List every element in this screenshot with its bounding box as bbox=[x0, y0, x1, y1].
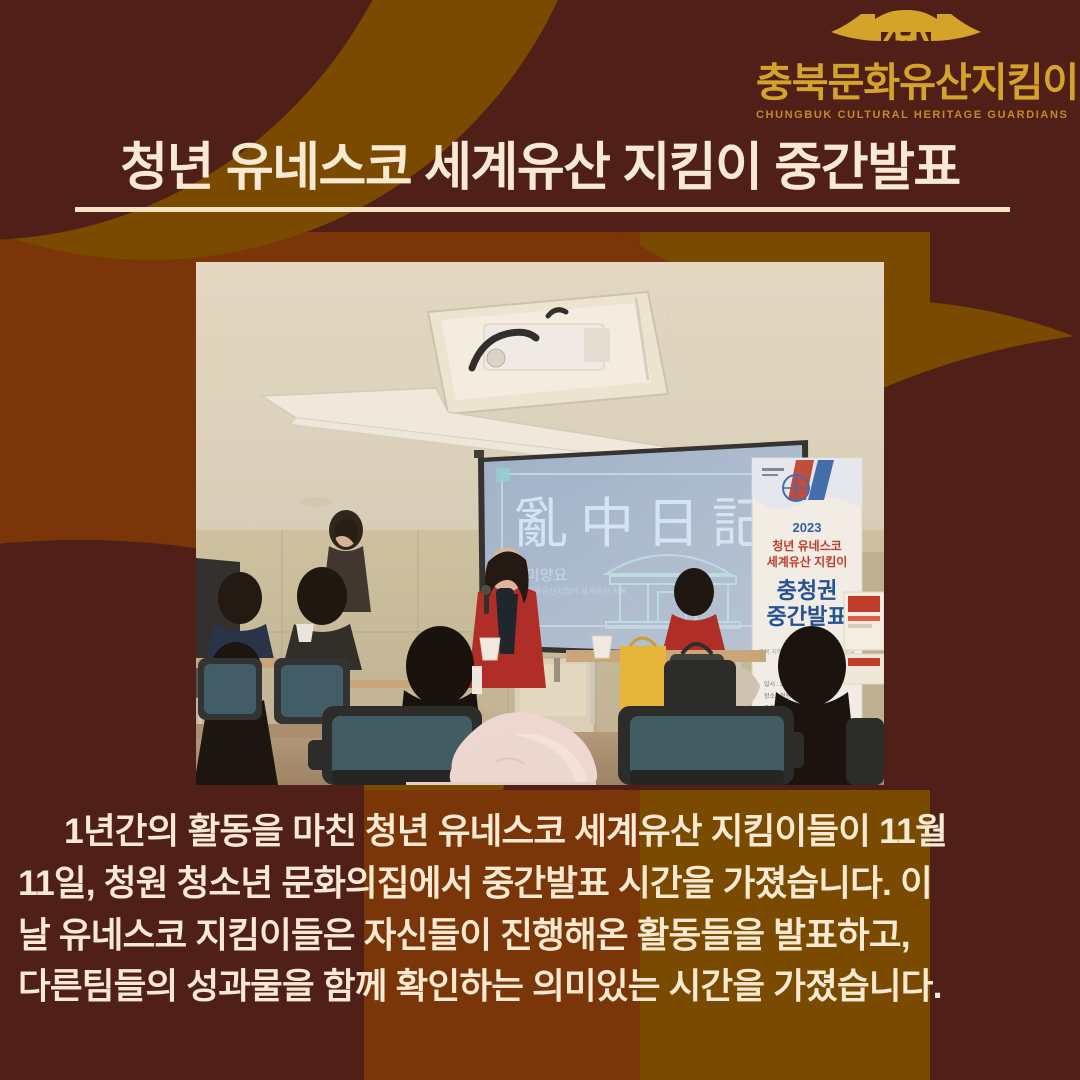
body-line-3: 날 유네스코 지킴이들은 자신들이 진행해온 활동들을 발표하고, bbox=[18, 910, 1062, 962]
promo-card: 충북문화유산지킴이 CHUNGBUK CULTURAL HERITAGE GUA… bbox=[0, 0, 1080, 1080]
event-photo-illustration: 亂中日記 신미양요 충북문화유산지킴이 세계유산 기록 bbox=[196, 262, 884, 785]
logo-tagline: CHUNGBUK CULTURAL HERITAGE GUARDIANS bbox=[756, 109, 1056, 121]
body-paragraph: 1년간의 활동을 마친 청년 유네스코 세계유산 지킴이들이 11월 11일, … bbox=[18, 806, 1062, 1013]
event-photo: 亂中日記 신미양요 충북문화유산지킴이 세계유산 기록 bbox=[196, 262, 884, 785]
logo-wordmark: 충북문화유산지킴이 bbox=[756, 62, 1056, 104]
title-underline-rule bbox=[75, 207, 1010, 212]
page-title: 청년 유네스코 세계유산 지킴이 중간발표 bbox=[120, 140, 960, 197]
body-line-1: 1년간의 활동을 마친 청년 유네스코 세계유산 지킴이들이 11월 bbox=[18, 806, 1062, 858]
body-line-4: 다른팀들의 성과물을 함께 확인하는 의미있는 시간을 가졌습니다. bbox=[18, 961, 1062, 1013]
body-line-2: 11일, 청원 청소년 문화의집에서 중간발표 시간을 가졌습니다. 이 bbox=[18, 858, 1062, 910]
chungbuk-heritage-roof-emblem bbox=[831, 8, 981, 60]
brand-logo: 충북문화유산지킴이 CHUNGBUK CULTURAL HERITAGE GUA… bbox=[756, 8, 1056, 121]
page-title-container: 청년 유네스코 세계유산 지킴이 중간발표 bbox=[0, 140, 1080, 197]
